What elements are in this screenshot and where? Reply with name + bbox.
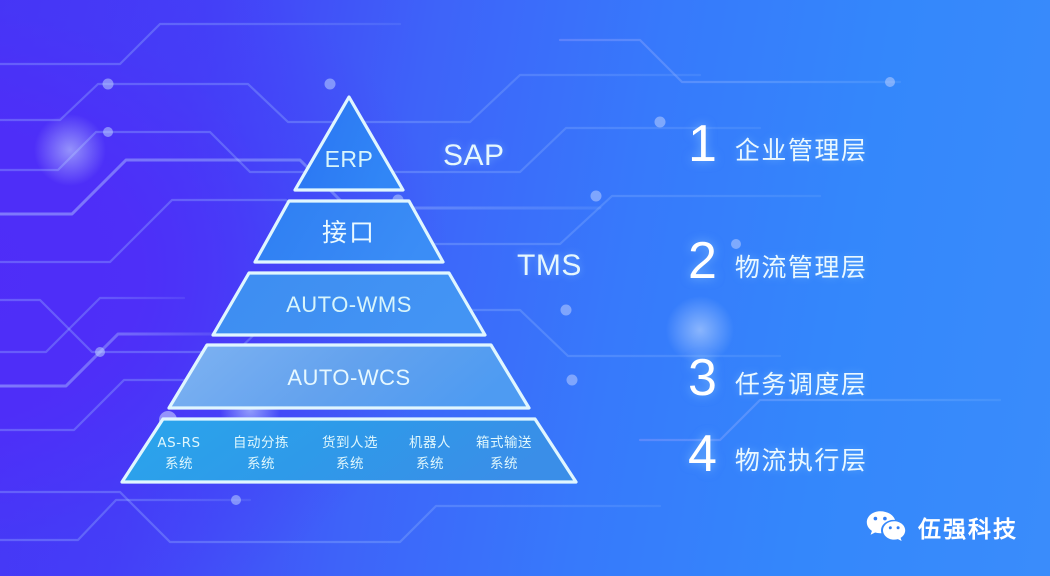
tier-label-interface: 接口: [322, 218, 376, 247]
wechat-icon: [866, 510, 906, 544]
pyramid-diagram: ERP 接口 AUTO-WMS AUTO-WCS AS-RS 系统: [0, 0, 1050, 576]
layer-number-3: 3: [688, 352, 717, 404]
layer-number-2: 2: [688, 235, 717, 287]
tier-label-auto-wcs: AUTO-WCS: [287, 365, 410, 390]
layer-row-1[interactable]: 1 企业管理层: [688, 118, 867, 170]
watermark-text: 伍强科技: [918, 510, 1018, 544]
layer-number-1: 1: [688, 118, 717, 170]
layer-text-2: 物流管理层: [735, 253, 868, 287]
pyramid-tier-auto-wcs[interactable]: AUTO-WCS: [169, 345, 529, 408]
pyramid-tier-auto-wms[interactable]: AUTO-WMS: [213, 273, 485, 335]
svg-text:机器人: 机器人: [409, 435, 451, 451]
svg-text:自动分拣: 自动分拣: [233, 435, 289, 451]
svg-text:系统: 系统: [490, 456, 518, 472]
tier-label-auto-wms: AUTO-WMS: [286, 292, 412, 317]
layer-text-1: 企业管理层: [735, 136, 868, 170]
label-sap: SAP: [443, 139, 505, 173]
svg-text:箱式输送: 箱式输送: [476, 435, 532, 451]
pyramid-tier-erp[interactable]: ERP: [295, 97, 403, 190]
pyramid-tier-interface[interactable]: 接口: [255, 201, 443, 262]
layer-row-3[interactable]: 3 任务调度层: [688, 352, 867, 404]
layer-text-3: 任务调度层: [735, 370, 868, 404]
label-tms: TMS: [517, 249, 582, 283]
layer-row-2[interactable]: 2 物流管理层: [688, 235, 867, 287]
watermark: 伍强科技: [866, 510, 1018, 544]
svg-text:系统: 系统: [247, 456, 275, 472]
tier-label-erp: ERP: [325, 146, 374, 172]
layer-text-4: 物流执行层: [735, 446, 868, 480]
svg-text:系统: 系统: [336, 456, 364, 472]
layer-number-4: 4: [688, 428, 717, 480]
slide-canvas: ERP 接口 AUTO-WMS AUTO-WCS AS-RS 系统: [0, 0, 1050, 576]
layer-row-4[interactable]: 4 物流执行层: [688, 428, 867, 480]
svg-text:系统: 系统: [416, 456, 444, 472]
svg-text:AS-RS: AS-RS: [157, 435, 200, 451]
svg-text:系统: 系统: [165, 456, 193, 472]
pyramid-tier-execution[interactable]: AS-RS 系统 自动分拣 系统 货到人选 系统 机器人 系统 箱式输送 系: [122, 419, 576, 482]
svg-text:货到人选: 货到人选: [322, 434, 378, 451]
